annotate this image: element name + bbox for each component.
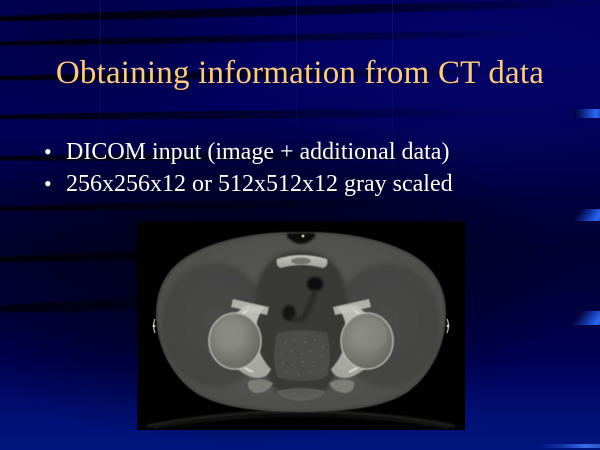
bullet-list: • DICOM input (image + additional data) …: [44, 136, 564, 200]
bullet-text: DICOM input (image + additional data): [66, 137, 449, 168]
accent-streak-horizontal: [574, 109, 600, 118]
bullet-list-item: • DICOM input (image + additional data): [44, 136, 564, 168]
accent-streak-bottom: [538, 444, 600, 448]
ct-scan-image: [137, 221, 465, 430]
bullet-marker-icon: •: [44, 136, 66, 167]
bullet-text: 256x256x12 or 512x512x12 gray scaled: [66, 169, 453, 200]
axial-pelvis-ct-graphic: [137, 221, 465, 430]
bullet-marker-icon: •: [44, 168, 66, 199]
bullet-list-item: • 256x256x12 or 512x512x12 gray scaled: [44, 168, 564, 200]
presentation-slide: Obtaining information from CT data • DIC…: [0, 0, 600, 450]
slide-title: Obtaining information from CT data: [0, 53, 600, 93]
